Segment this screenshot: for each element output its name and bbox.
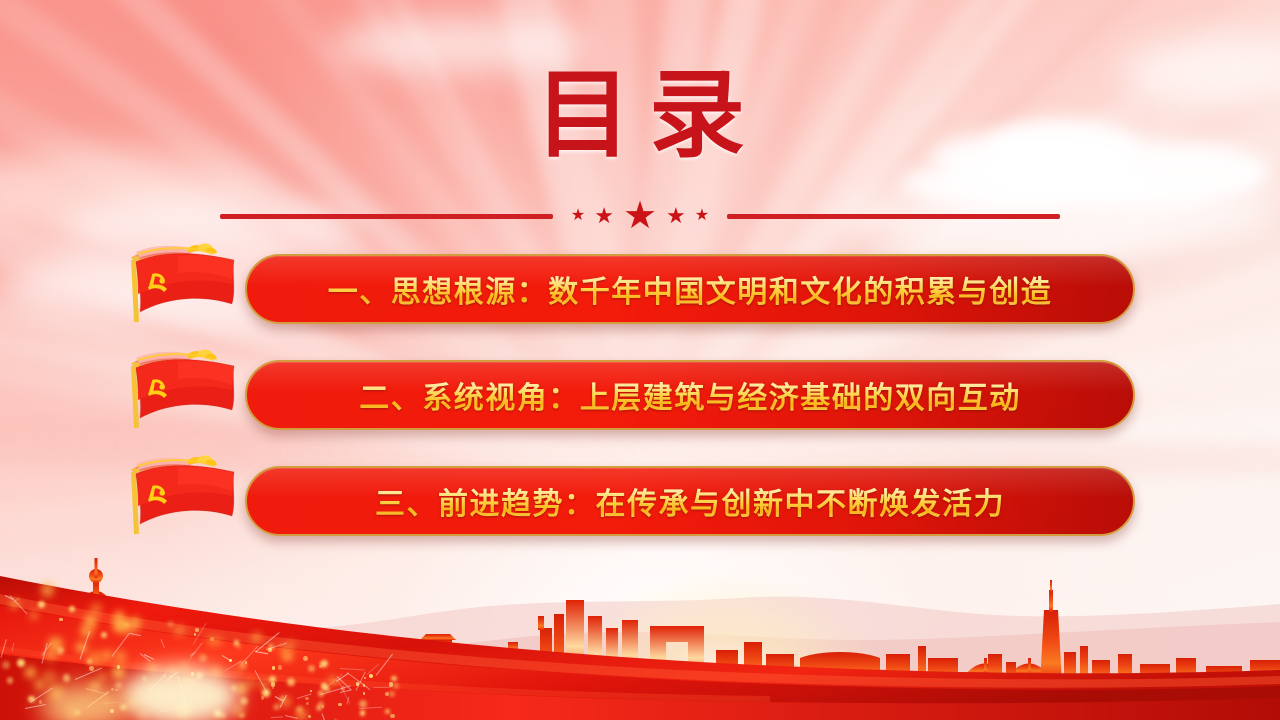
party-flag-icon — [118, 454, 246, 538]
star-icon: ★ — [571, 208, 585, 224]
toc-item-label: 二、系统视角：上层建筑与经济基础的双向互动 — [359, 373, 1021, 417]
red-silk-ribbon-icon — [0, 550, 1280, 720]
star-icon: ★ — [695, 208, 709, 224]
star-icon: ★ — [594, 205, 614, 227]
page-title: 目录 — [0, 62, 1280, 170]
toc-pill-3[interactable]: 三、前进趋势：在传承与创新中不断焕发活力 — [245, 466, 1135, 536]
toc-item-2[interactable]: 二、系统视角：上层建筑与经济基础的双向互动 — [0, 354, 1280, 424]
star-icon: ★ — [666, 205, 686, 227]
title-divider: ★ ★ ★ ★ ★ — [0, 198, 1280, 234]
toc-item-3[interactable]: 三、前进趋势：在传承与创新中不断焕发活力 — [0, 460, 1280, 530]
divider-stars: ★ ★ ★ ★ ★ — [571, 197, 709, 235]
star-icon: ★ — [623, 197, 657, 235]
toc-item-1[interactable]: 一、思想根源：数千年中国文明和文化的积累与创造 — [0, 248, 1280, 318]
toc-list: 一、思想根源：数千年中国文明和文化的积累与创造 — [0, 248, 1280, 566]
bottom-scenery — [0, 530, 1280, 720]
toc-pill-1[interactable]: 一、思想根源：数千年中国文明和文化的积累与创造 — [245, 254, 1135, 324]
toc-pill-2[interactable]: 二、系统视角：上层建筑与经济基础的双向互动 — [245, 360, 1135, 430]
party-flag-icon — [118, 242, 246, 326]
toc-item-label: 三、前进趋势：在传承与创新中不断焕发活力 — [375, 479, 1005, 523]
slide-canvas: 目录 ★ ★ ★ ★ ★ — [0, 0, 1280, 720]
divider-line-left — [220, 214, 553, 219]
divider-line-right — [727, 214, 1060, 219]
party-flag-icon — [118, 348, 246, 432]
toc-item-label: 一、思想根源：数千年中国文明和文化的积累与创造 — [328, 267, 1053, 311]
